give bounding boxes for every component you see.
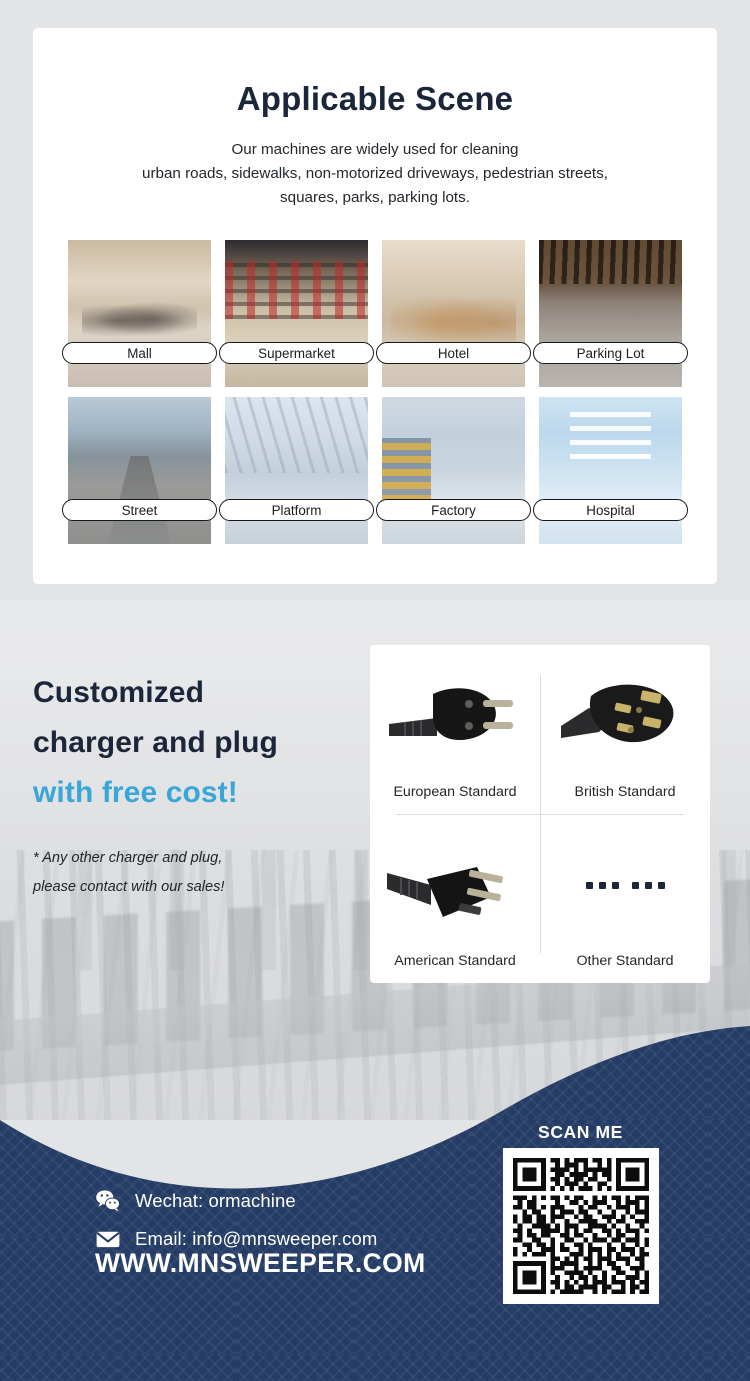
scene-subtitle-line-2: urban roads, sidewalks, non-motorized dr… xyxy=(33,162,717,186)
applicable-scene-card: Applicable Scene Our machines are widely… xyxy=(33,28,717,584)
page-title: Applicable Scene xyxy=(33,80,717,118)
hotel-photo xyxy=(382,240,525,387)
parking-lot-photo xyxy=(539,240,682,387)
plug-standard-label: Other Standard xyxy=(576,953,673,969)
scene-tile-label: Parking Lot xyxy=(533,342,688,364)
ellipsis-icon xyxy=(540,832,710,939)
mall-photo xyxy=(68,240,211,387)
plug-standards-panel: European Standard British Standard xyxy=(370,645,710,983)
ellipsis-group-2 xyxy=(632,882,665,889)
scene-tile-label: Street xyxy=(62,499,217,521)
plug-divider-horizontal xyxy=(396,814,684,815)
charger-heading-accent: with free cost! xyxy=(33,776,238,809)
scene-tile-factory[interactable]: Factory xyxy=(382,397,525,544)
scene-tile-label: Mall xyxy=(62,342,217,364)
scene-subtitle-line-1: Our machines are widely used for cleanin… xyxy=(33,138,717,162)
scene-tile-grid: Mall Supermarket Hotel Parking Lot Stree… xyxy=(68,240,682,544)
wechat-icon xyxy=(95,1188,121,1214)
scene-tile-platform[interactable]: Platform xyxy=(225,397,368,544)
scene-tile-label: Supermarket xyxy=(219,342,374,364)
contact-row-wechat[interactable]: Wechat: ormachine xyxy=(95,1182,377,1220)
scene-subtitle-line-3: squares, parks, parking lots. xyxy=(33,186,717,210)
plug-cell-european[interactable]: European Standard xyxy=(370,645,540,814)
charger-heading: Customized charger and plug with free co… xyxy=(33,668,353,818)
supermarket-photo xyxy=(225,240,368,387)
wechat-label: Wechat: ormachine xyxy=(135,1190,296,1212)
scene-subtitle: Our machines are widely used for cleanin… xyxy=(33,138,717,210)
scan-me-label: SCAN ME xyxy=(503,1122,658,1143)
contact-block: Wechat: ormachine Email: info@mnsweeper.… xyxy=(95,1182,377,1258)
eu-plug-icon xyxy=(370,663,540,770)
email-label: Email: info@mnsweeper.com xyxy=(135,1228,377,1250)
scene-tile-hotel[interactable]: Hotel xyxy=(382,240,525,387)
factory-photo xyxy=(382,397,525,544)
plug-cell-american[interactable]: American Standard xyxy=(370,814,540,983)
scene-tile-supermarket[interactable]: Supermarket xyxy=(225,240,368,387)
scene-tile-label: Factory xyxy=(376,499,531,521)
ellipsis-group-1 xyxy=(586,882,619,889)
plug-cell-other[interactable]: Other Standard xyxy=(540,814,710,983)
plug-standard-label: British Standard xyxy=(575,784,676,800)
scene-tile-label: Hospital xyxy=(533,499,688,521)
scene-tile-parking-lot[interactable]: Parking Lot xyxy=(539,240,682,387)
qr-code[interactable] xyxy=(503,1148,659,1304)
charger-note: * Any other charger and plug, please con… xyxy=(33,844,353,902)
us-plug-icon xyxy=(370,832,540,939)
plug-standard-label: American Standard xyxy=(394,953,515,969)
platform-photo xyxy=(225,397,368,544)
charger-heading-line-1: Customized xyxy=(33,676,204,709)
charger-note-line-1: * Any other charger and plug, xyxy=(33,844,353,873)
scene-tile-label: Platform xyxy=(219,499,374,521)
plug-standard-label: European Standard xyxy=(393,784,516,800)
street-photo xyxy=(68,397,211,544)
plug-cell-british[interactable]: British Standard xyxy=(540,645,710,814)
qr-code-image xyxy=(513,1158,649,1294)
uk-plug-icon xyxy=(540,663,710,770)
scene-tile-hospital[interactable]: Hospital xyxy=(539,397,682,544)
website-url[interactable]: WWW.MNSWEEPER.COM xyxy=(95,1248,426,1279)
scene-tile-street[interactable]: Street xyxy=(68,397,211,544)
charger-heading-line-2: charger and plug xyxy=(33,726,278,759)
scene-tile-label: Hotel xyxy=(376,342,531,364)
charger-headline-block: Customized charger and plug with free co… xyxy=(33,668,353,902)
charger-note-line-2: please contact with our sales! xyxy=(33,873,353,902)
hospital-photo xyxy=(539,397,682,544)
scene-tile-mall[interactable]: Mall xyxy=(68,240,211,387)
